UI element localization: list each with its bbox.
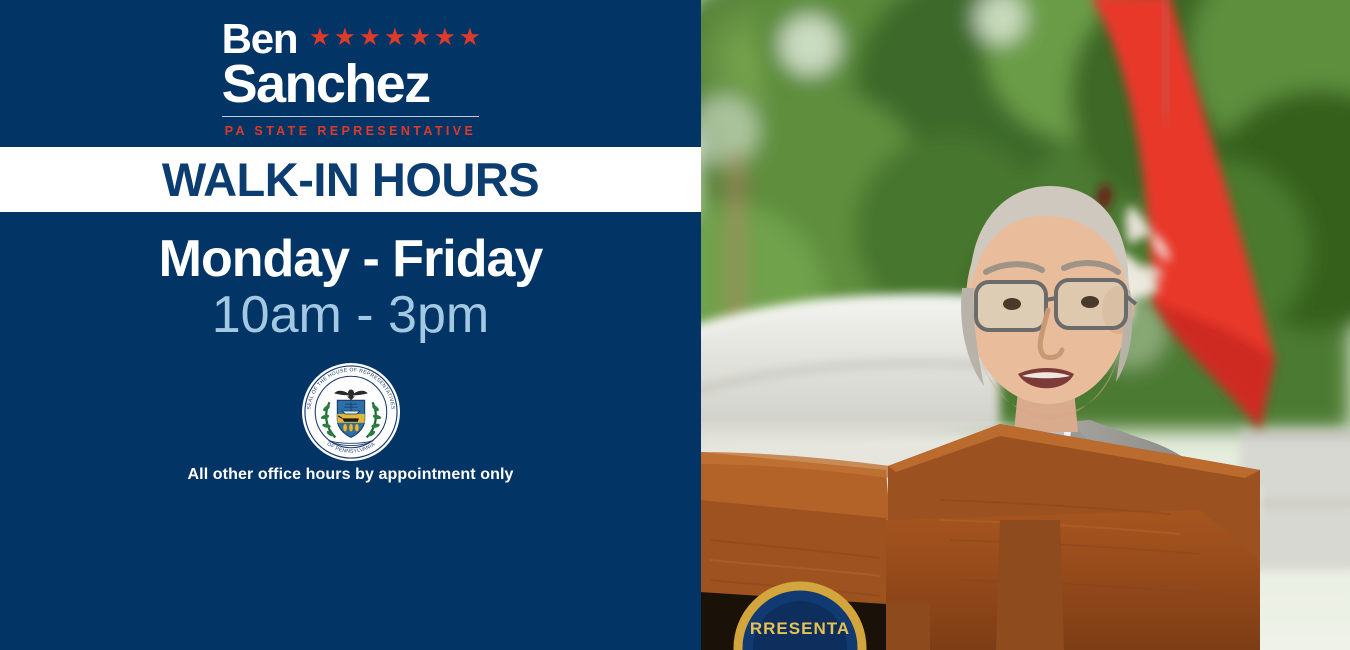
star-icon	[360, 28, 379, 47]
banner-title: WALK-IN HOURS	[162, 156, 539, 203]
pa-house-seal-icon: SEAL OF THE HOUSE OF REPRESENTATIVES OF …	[302, 363, 400, 461]
star-icon	[310, 28, 329, 47]
seal-container: SEAL OF THE HOUSE OF REPRESENTATIVES OF …	[0, 363, 701, 466]
star-icon	[435, 28, 454, 47]
representative-photo: RRESENTA	[700, 0, 1350, 650]
logo-last-name: Sanchez	[222, 58, 480, 110]
footnote-text: All other office hours by appointment on…	[0, 466, 701, 484]
logo-divider	[222, 116, 480, 117]
star-icon	[460, 28, 479, 47]
svg-text:RRESENTA: RRESENTA	[750, 619, 850, 638]
star-icon	[410, 28, 429, 47]
hours-days: Monday - Friday	[0, 230, 701, 288]
star-icon	[335, 28, 354, 47]
star-icon	[385, 28, 404, 47]
left-info-panel: Ben Sanchez PA STATE REPRESENTATIVE	[0, 0, 701, 650]
stars-decoration	[310, 28, 479, 47]
hours-time: 10am - 3pm	[0, 286, 701, 344]
logo-first-name: Ben	[222, 19, 298, 59]
poster-root: Ben Sanchez PA STATE REPRESENTATIVE	[0, 0, 1350, 650]
logo-subtitle: PA STATE REPRESENTATIVE	[222, 124, 480, 138]
hours-block: Monday - Friday 10am - 3pm	[0, 230, 701, 344]
campaign-logo: Ben Sanchez PA STATE REPRESENTATIVE	[0, 16, 701, 140]
walk-in-hours-banner: WALK-IN HOURS	[0, 147, 701, 212]
